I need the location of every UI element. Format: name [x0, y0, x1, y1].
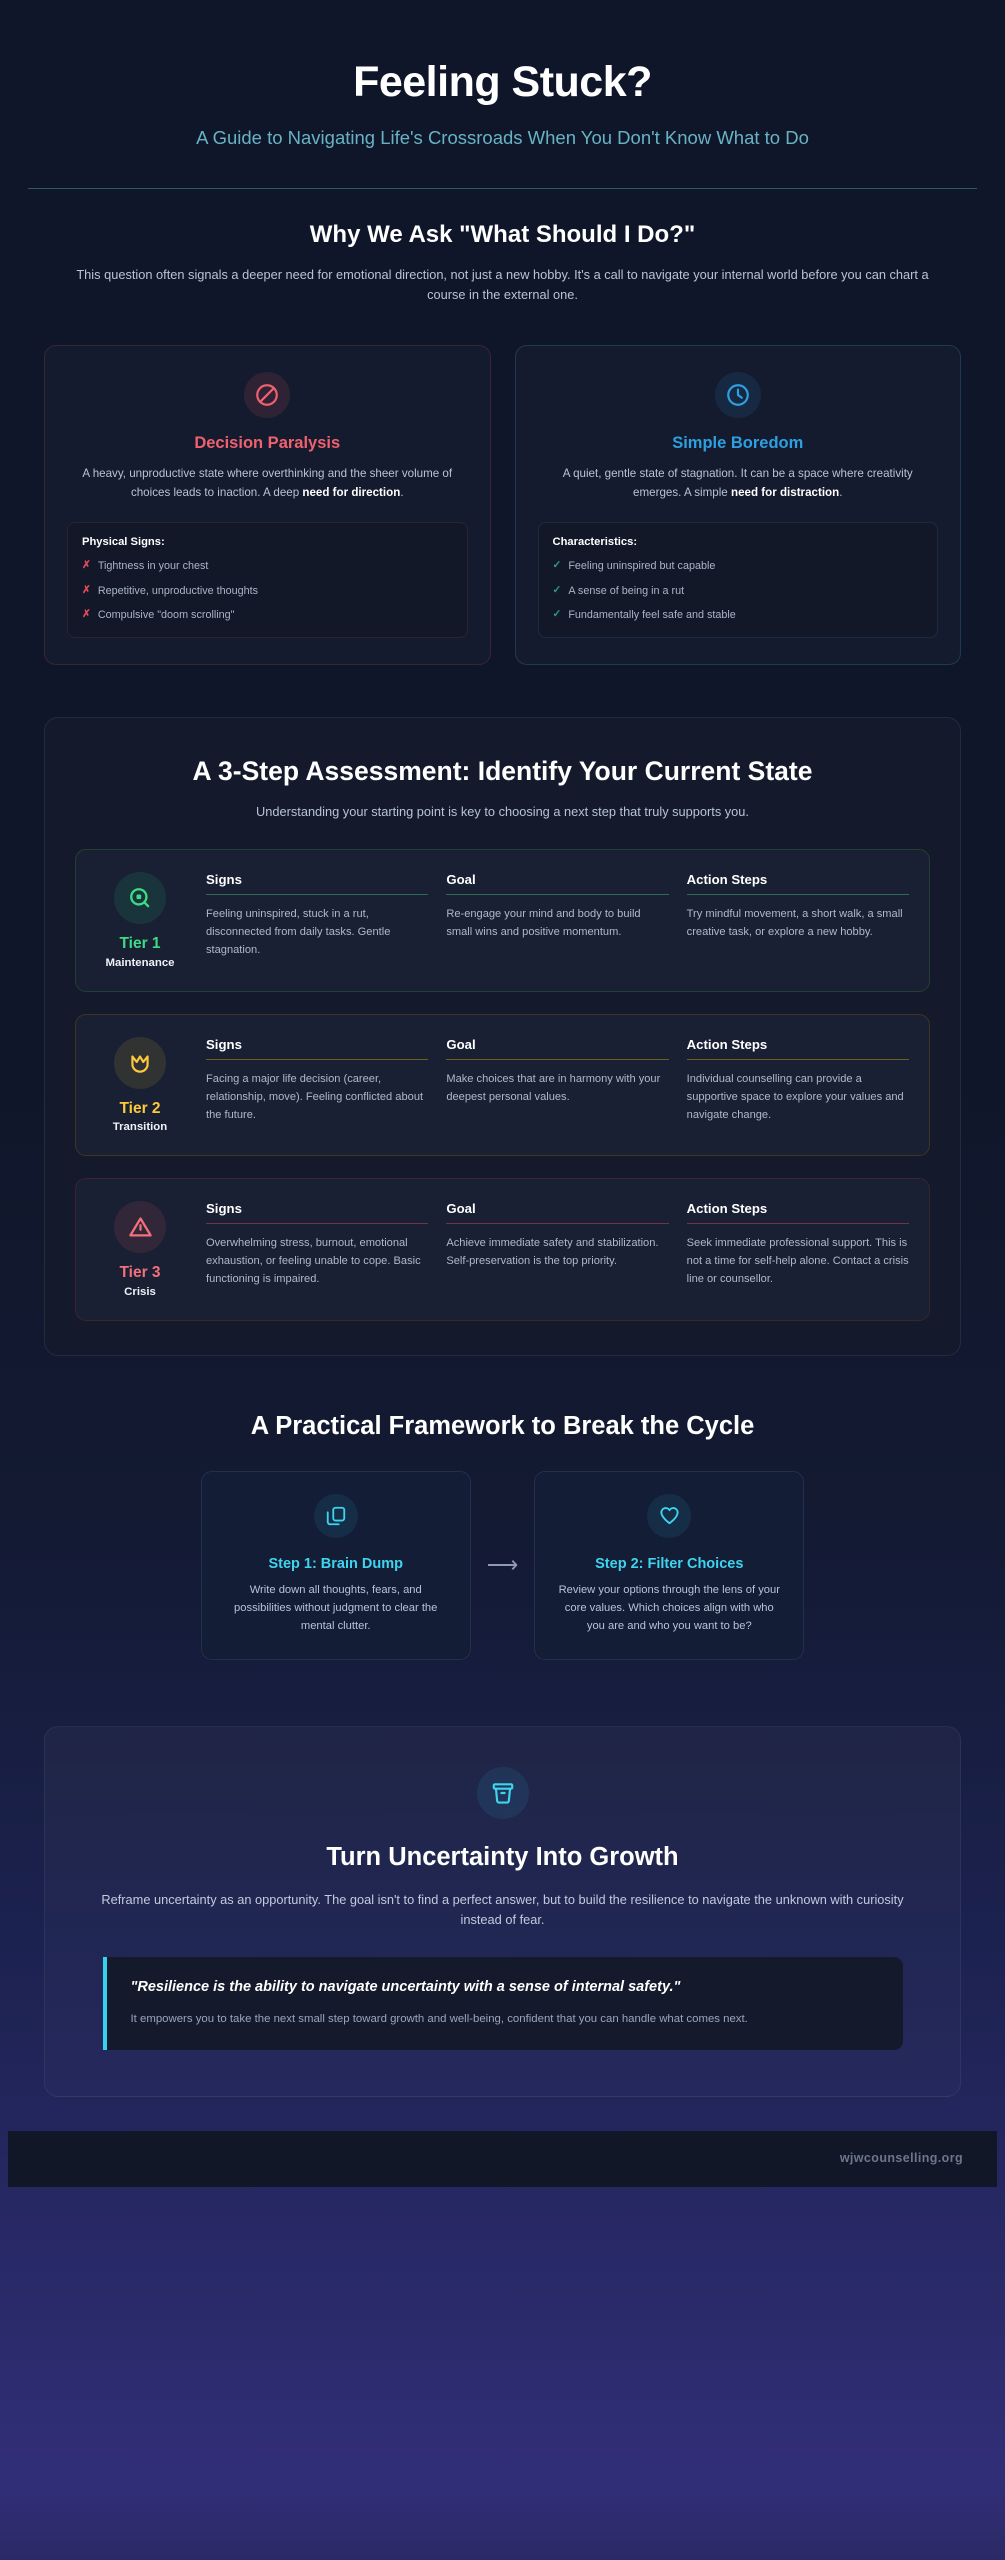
- check-icon: ✓: [553, 607, 562, 623]
- tier-badge: Tier 1 Maintenance: [92, 870, 188, 968]
- list-item: ✗Tightness in your chest: [82, 558, 453, 574]
- quote-main-text: "Resilience is the ability to navigate u…: [131, 1977, 879, 1998]
- tier-row: Tier 1 Maintenance Signs Feeling uninspi…: [75, 849, 930, 991]
- page-title: Feeling Stuck?: [48, 58, 957, 107]
- tier-columns: Signs Feeling uninspired, stuck in a rut…: [206, 870, 909, 968]
- crossroads-icon: [114, 1037, 166, 1089]
- cross-icon: ✗: [82, 607, 91, 623]
- column-header: Signs: [206, 1201, 428, 1223]
- check-icon: ✓: [553, 558, 562, 574]
- card-title: Decision Paralysis: [67, 434, 468, 453]
- list-item: ✓A sense of being in a rut: [553, 583, 924, 599]
- tier-row: Tier 3 Crisis Signs Overwhelming stress,…: [75, 1178, 930, 1320]
- tier-column-signs: Signs Overwhelming stress, burnout, emot…: [206, 1201, 428, 1297]
- framework-section: A Practical Framework to Break the Cycle…: [8, 1356, 997, 1670]
- column-body: Try mindful movement, a short walk, a sm…: [687, 906, 909, 942]
- step-body: Write down all thoughts, fears, and poss…: [222, 1581, 450, 1635]
- column-rule: [687, 1223, 909, 1224]
- column-rule: [446, 1059, 668, 1060]
- tier-label: Maintenance: [92, 957, 188, 969]
- page-footer: wjwcounselling.org: [8, 2131, 997, 2187]
- card-description: A quiet, gentle state of stagnation. It …: [538, 465, 939, 503]
- archive-box-icon: [477, 1767, 529, 1819]
- characteristics-box: Characteristics: ✓Feeling uninspired but…: [538, 522, 939, 638]
- why-we-ask-section: Why We Ask "What Should I Do?" This ques…: [8, 189, 997, 705]
- copy-stack-icon: [314, 1494, 358, 1538]
- tier-badge: Tier 2 Transition: [92, 1035, 188, 1133]
- column-rule: [687, 894, 909, 895]
- tier-column-signs: Signs Facing a major life decision (care…: [206, 1037, 428, 1133]
- step-title: Step 1: Brain Dump: [222, 1556, 450, 1572]
- step-body: Review your options through the lens of …: [555, 1581, 783, 1635]
- list-item-label: Feeling uninspired but capable: [568, 558, 715, 574]
- column-rule: [687, 1059, 909, 1060]
- column-body: Feeling uninspired, stuck in a rut, disc…: [206, 906, 428, 960]
- column-header: Action Steps: [687, 1201, 909, 1223]
- why-heading: Why We Ask "What Should I Do?": [44, 221, 961, 249]
- column-rule: [206, 894, 428, 895]
- no-entry-icon: [244, 372, 290, 418]
- list-item: ✗Repetitive, unproductive thoughts: [82, 583, 453, 599]
- assessment-lead: Understanding your starting point is key…: [75, 804, 930, 819]
- column-header: Action Steps: [687, 1037, 909, 1059]
- step-title: Step 2: Filter Choices: [555, 1556, 783, 1572]
- list-item-label: Tightness in your chest: [98, 558, 209, 574]
- physical-signs-box: Physical Signs: ✗Tightness in your chest…: [67, 522, 468, 638]
- tier-columns: Signs Facing a major life decision (care…: [206, 1035, 909, 1133]
- warning-triangle-icon: [114, 1201, 166, 1253]
- list-item-label: Repetitive, unproductive thoughts: [98, 583, 258, 599]
- column-rule: [446, 894, 668, 895]
- step-card-brain-dump: Step 1: Brain Dump Write down all though…: [201, 1471, 471, 1660]
- column-rule: [206, 1059, 428, 1060]
- tier-column-action: Action Steps Seek immediate professional…: [687, 1201, 909, 1297]
- quote-sub-text: It empowers you to take the next small s…: [131, 2010, 879, 2028]
- column-header: Goal: [446, 872, 668, 894]
- column-body: Facing a major life decision (career, re…: [206, 1071, 428, 1125]
- card-title: Simple Boredom: [538, 434, 939, 453]
- tier-list: Tier 1 Maintenance Signs Feeling uninspi…: [75, 849, 930, 1320]
- tier-column-action: Action Steps Individual counselling can …: [687, 1037, 909, 1133]
- column-header: Signs: [206, 872, 428, 894]
- tier-name: Tier 2: [92, 1099, 188, 1118]
- column-body: Individual counselling can provide a sup…: [687, 1071, 909, 1125]
- tier-row: Tier 2 Transition Signs Facing a major l…: [75, 1014, 930, 1156]
- growth-section: Turn Uncertainty Into Growth Reframe unc…: [44, 1726, 961, 2097]
- list-item: ✓Fundamentally feel safe and stable: [553, 607, 924, 623]
- card-description: A heavy, unproductive state where overth…: [67, 465, 468, 503]
- tier-name: Tier 3: [92, 1263, 188, 1282]
- hero-header: Feeling Stuck? A Guide to Navigating Lif…: [8, 10, 997, 152]
- card-decision-paralysis: Decision Paralysis A heavy, unproductive…: [44, 345, 491, 665]
- step-card-filter-choices: Step 2: Filter Choices Review your optio…: [534, 1471, 804, 1660]
- column-body: Overwhelming stress, burnout, emotional …: [206, 1235, 428, 1289]
- column-body: Seek immediate professional support. Thi…: [687, 1235, 909, 1289]
- column-body: Re-engage your mind and body to build sm…: [446, 906, 668, 942]
- tier-column-goal: Goal Make choices that are in harmony wi…: [446, 1037, 668, 1133]
- steps-flow: Step 1: Brain Dump Write down all though…: [44, 1471, 961, 1660]
- growth-lead: Reframe uncertainty as an opportunity. T…: [88, 1890, 918, 1931]
- list-item-label: A sense of being in a rut: [568, 583, 684, 599]
- column-header: Goal: [446, 1201, 668, 1223]
- column-body: Make choices that are in harmony with yo…: [446, 1071, 668, 1107]
- why-lead: This question often signals a deeper nee…: [73, 265, 933, 305]
- desc-emphasis: need for direction: [302, 486, 400, 499]
- framework-heading: A Practical Framework to Break the Cycle: [44, 1412, 961, 1441]
- desc-part-2: .: [400, 486, 403, 499]
- list-heading: Characteristics:: [553, 536, 924, 548]
- list-heading: Physical Signs:: [82, 536, 453, 548]
- cross-icon: ✗: [82, 558, 91, 574]
- page-subtitle: A Guide to Navigating Life's Crossroads …: [58, 125, 948, 152]
- column-rule: [446, 1223, 668, 1224]
- tier-label: Crisis: [92, 1286, 188, 1298]
- card-simple-boredom: Simple Boredom A quiet, gentle state of …: [515, 345, 962, 665]
- list-item: ✗Compulsive "doom scrolling": [82, 607, 453, 623]
- tier-column-signs: Signs Feeling uninspired, stuck in a rut…: [206, 872, 428, 968]
- list-item-label: Compulsive "doom scrolling": [98, 607, 235, 623]
- check-icon: ✓: [553, 583, 562, 599]
- resilience-quote: "Resilience is the ability to navigate u…: [103, 1957, 903, 2050]
- cross-icon: ✗: [82, 583, 91, 599]
- desc-part-2: .: [839, 486, 842, 499]
- clock-icon: [715, 372, 761, 418]
- growth-heading: Turn Uncertainty Into Growth: [87, 1843, 918, 1872]
- assessment-section: A 3-Step Assessment: Identify Your Curre…: [44, 717, 961, 1356]
- tier-name: Tier 1: [92, 934, 188, 953]
- footer-site-url[interactable]: wjwcounselling.org: [840, 2151, 963, 2165]
- assessment-heading: A 3-Step Assessment: Identify Your Curre…: [133, 754, 873, 788]
- tier-column-goal: Goal Re-engage your mind and body to bui…: [446, 872, 668, 968]
- tier-columns: Signs Overwhelming stress, burnout, emot…: [206, 1199, 909, 1297]
- tier-column-goal: Goal Achieve immediate safety and stabil…: [446, 1201, 668, 1297]
- column-rule: [206, 1223, 428, 1224]
- tier-badge: Tier 3 Crisis: [92, 1199, 188, 1297]
- arrow-right-icon: ⟶: [487, 1554, 519, 1576]
- comparison-grid: Decision Paralysis A heavy, unproductive…: [44, 345, 961, 665]
- infographic-shell: Feeling Stuck? A Guide to Navigating Lif…: [8, 10, 997, 2550]
- target-search-icon: [114, 872, 166, 924]
- column-header: Action Steps: [687, 872, 909, 894]
- column-header: Signs: [206, 1037, 428, 1059]
- tier-column-action: Action Steps Try mindful movement, a sho…: [687, 872, 909, 968]
- heart-icon: [647, 1494, 691, 1538]
- tier-label: Transition: [92, 1121, 188, 1133]
- list-item: ✓Feeling uninspired but capable: [553, 558, 924, 574]
- list-item-label: Fundamentally feel safe and stable: [568, 607, 735, 623]
- desc-emphasis: need for distraction: [731, 486, 839, 499]
- infographic-page: Feeling Stuck? A Guide to Navigating Lif…: [0, 0, 1005, 2560]
- column-header: Goal: [446, 1037, 668, 1059]
- column-body: Achieve immediate safety and stabilizati…: [446, 1235, 668, 1271]
